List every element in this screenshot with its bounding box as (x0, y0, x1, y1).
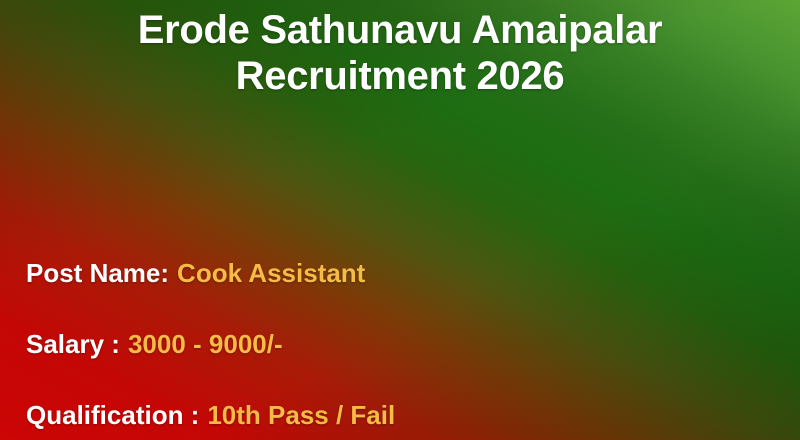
salary-label: Salary : (26, 329, 120, 360)
salary-value: 3000 - 9000/- (128, 329, 283, 360)
title-line-2: Recruitment 2026 (0, 53, 800, 99)
post-name-value: Cook Assistant (177, 258, 365, 289)
detail-row-qualification: Qualification : 10th Pass / Fail (26, 380, 546, 440)
qualification-value: 10th Pass / Fail (207, 400, 395, 431)
detail-row-salary: Salary : 3000 - 9000/- (26, 309, 546, 380)
page-title: Erode Sathunavu Amaipalar Recruitment 20… (0, 0, 800, 100)
title-line-1: Erode Sathunavu Amaipalar (0, 7, 800, 53)
details-list: Post Name: Cook Assistant Salary : 3000 … (26, 238, 546, 440)
detail-row-post-name: Post Name: Cook Assistant (26, 238, 546, 309)
qualification-label: Qualification : (26, 400, 199, 431)
post-name-label: Post Name: (26, 258, 169, 289)
recruitment-poster: Erode Sathunavu Amaipalar Recruitment 20… (0, 0, 800, 440)
